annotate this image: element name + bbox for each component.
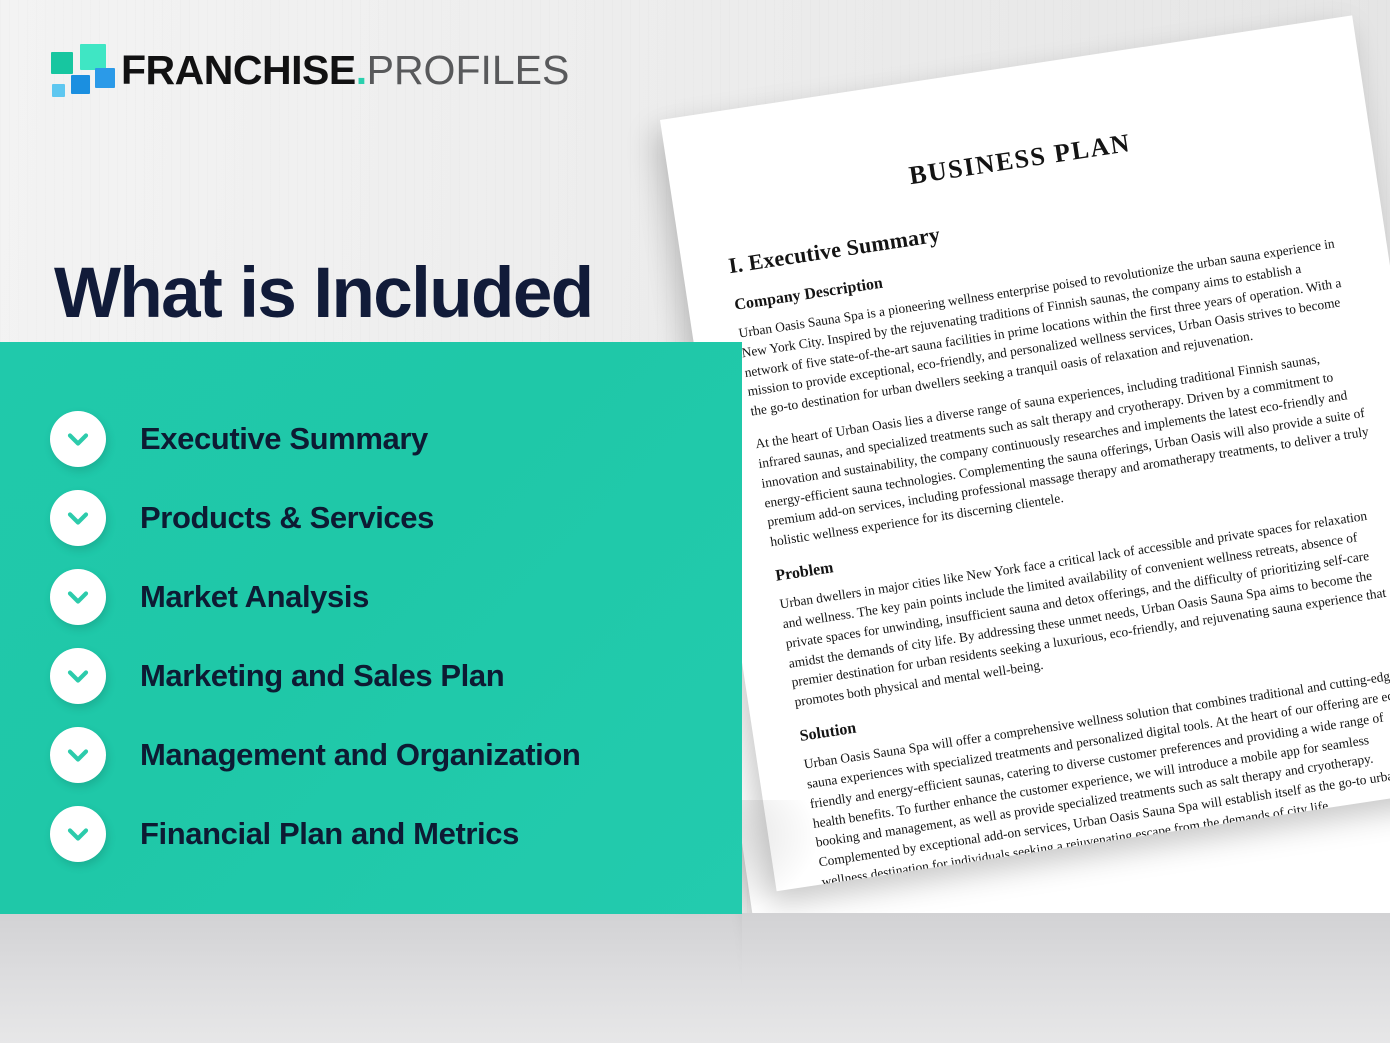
page-title: What is Included <box>54 257 592 331</box>
list-item[interactable]: Executive Summary <box>50 399 740 478</box>
chevron-down-icon[interactable] <box>50 727 106 783</box>
logo-wordmark: FRANCHISE.PROFILES <box>121 50 569 91</box>
chevron-down-icon[interactable] <box>50 490 106 546</box>
logo-squares-icon <box>45 42 107 98</box>
business-plan-document-stack: Complemented by exceptional add-on servi… <box>640 120 1390 1043</box>
logo-dot: . <box>356 47 367 93</box>
logo-word-light: PROFILES <box>367 47 570 93</box>
chevron-down-icon[interactable] <box>50 648 106 704</box>
chevron-down-icon[interactable] <box>50 806 106 862</box>
included-sections-list: Executive Summary Products & Services Ma… <box>50 399 740 873</box>
list-item-label: Financial Plan and Metrics <box>140 818 519 849</box>
chevron-down-icon[interactable] <box>50 411 106 467</box>
list-item-label: Market Analysis <box>140 581 369 612</box>
chevron-down-icon[interactable] <box>50 569 106 625</box>
list-item[interactable]: Management and Organization <box>50 715 740 794</box>
list-item-label: Marketing and Sales Plan <box>140 660 504 691</box>
list-item-label: Management and Organization <box>140 739 580 770</box>
list-item[interactable]: Marketing and Sales Plan <box>50 636 740 715</box>
slide-canvas: Complemented by exceptional add-on servi… <box>0 0 1390 1043</box>
list-item[interactable]: Financial Plan and Metrics <box>50 794 740 873</box>
list-item-label: Products & Services <box>140 502 434 533</box>
list-item[interactable]: Market Analysis <box>50 557 740 636</box>
brand-logo[interactable]: FRANCHISE.PROFILES <box>45 42 569 98</box>
document-page-front: BUSINESS PLAN I. Executive Summary Compa… <box>660 15 1390 891</box>
list-item[interactable]: Products & Services <box>50 478 740 557</box>
list-item-label: Executive Summary <box>140 423 428 454</box>
logo-word-bold: FRANCHISE <box>121 47 356 93</box>
